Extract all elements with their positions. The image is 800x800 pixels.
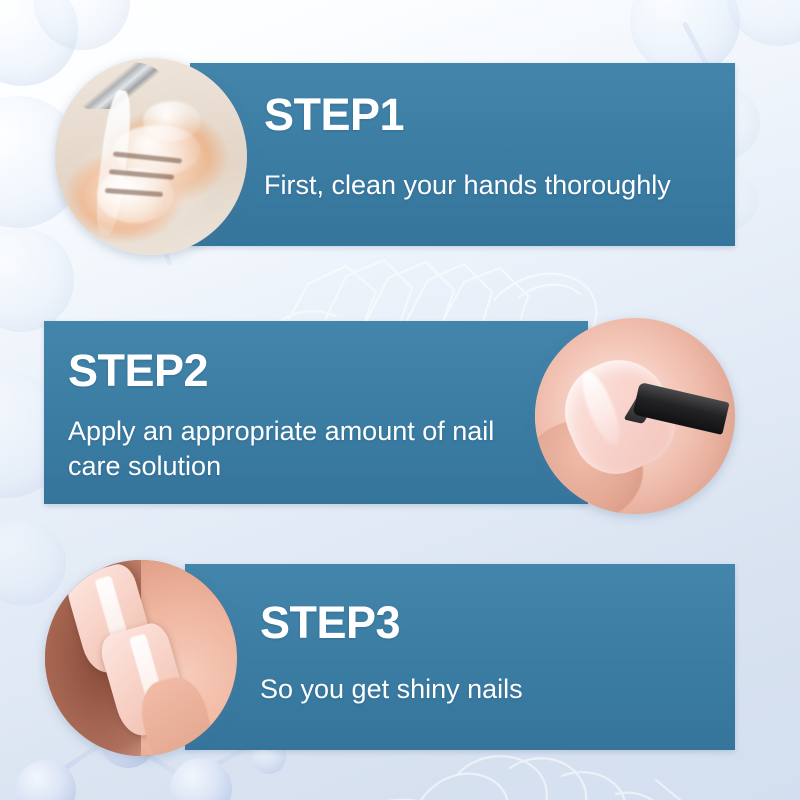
step-2-description: Apply an appropriate amount of nail care… [68, 414, 520, 484]
washing-hands-photo [55, 58, 247, 255]
step-3-description: So you get shiny nails [260, 672, 720, 707]
step-3-title: STEP3 [260, 600, 400, 647]
step-1-title: STEP1 [264, 92, 404, 139]
shiny-nails-photo [45, 560, 237, 756]
bubble-decoration [34, 0, 130, 50]
step-2-title: STEP2 [68, 348, 208, 395]
bubble-decoration [726, 0, 800, 46]
step-1-description: First, clean your hands thoroughly [264, 168, 724, 203]
nail-care-steps-poster: STEP1 First, clean your hands thoroughly… [0, 0, 800, 800]
step-3-panel [185, 564, 735, 750]
nail-brush-photo [535, 318, 735, 514]
